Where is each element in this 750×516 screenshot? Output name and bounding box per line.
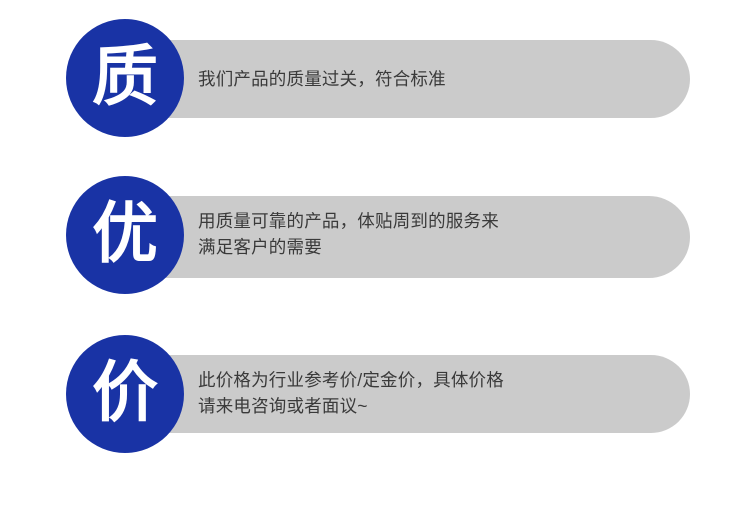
feature-row: 优 用质量可靠的产品，体贴周到的服务来 满足客户的需要 [0,176,750,294]
feature-badge-quality: 质 [66,19,184,137]
badge-character: 优 [92,201,158,267]
feature-badge-excellence: 优 [66,176,184,294]
feature-row: 质 我们产品的质量过关，符合标准 [0,19,750,137]
feature-row: 价 此价格为行业参考价/定金价，具体价格 请来电咨询或者面议~ [0,335,750,453]
feature-highlight-board: 质 我们产品的质量过关，符合标准 优 用质量可靠的产品，体贴周到的服务来 满足客… [0,0,750,516]
feature-badge-price: 价 [66,335,184,453]
badge-character: 质 [92,44,158,110]
feature-description: 用质量可靠的产品，体贴周到的服务来 满足客户的需要 [198,208,668,260]
feature-description: 此价格为行业参考价/定金价，具体价格 请来电咨询或者面议~ [198,367,668,419]
badge-character: 价 [92,360,158,426]
feature-description: 我们产品的质量过关，符合标准 [198,66,668,92]
